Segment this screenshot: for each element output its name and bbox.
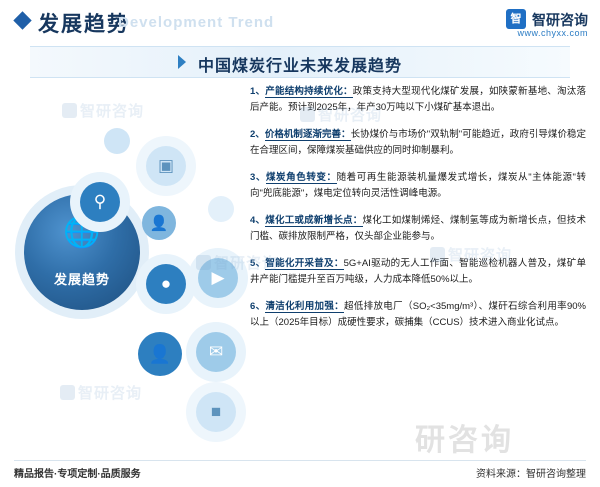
user-outline-icon: 👤: [149, 344, 171, 365]
trend-item-2-num: 2、: [250, 129, 265, 140]
trend-item-1-num: 1、: [250, 86, 265, 97]
node-user[interactable]: 👤: [142, 206, 176, 240]
node-dot-a: [104, 128, 130, 154]
mail-icon: ✉: [196, 332, 236, 372]
node-play[interactable]: ▶: [188, 248, 248, 308]
brand-url[interactable]: www.chyxx.com: [517, 28, 588, 38]
node-user-outline[interactable]: 👤: [138, 332, 182, 376]
trend-item-4: 4、煤化工或成新增长点：煤化工如煤制烯烃、煤制氢等成为新增长点，但技术门槛、碳排…: [250, 213, 586, 245]
trend-item-3: 3、煤炭角色转变：随着可再生能源装机量爆发式增长，煤炭从"主体能源"转向"兜底能…: [250, 170, 586, 202]
header-subtitle: Development Trend: [118, 14, 274, 31]
play-icon: ▶: [198, 258, 238, 298]
trend-item-1-heading: 产能结构持续优化：: [265, 86, 353, 98]
footer-source-text: 资料来源：智研咨询整理: [476, 465, 586, 480]
center-node-label: 发展趋势: [24, 269, 140, 288]
trend-item-6: 6、清洁化利用加强：超低排放电厂（SO₂<35mg/m³）、煤矸石综合利用率90…: [250, 299, 586, 331]
trend-item-5-heading: 智能化开采普及：: [265, 258, 343, 270]
trend-item-5: 5、智能化开采普及：5G+AI驱动的无人工作面、智能巡检机器人普及，煤矿单井产能…: [250, 256, 586, 288]
trend-list: 1、产能结构持续优化：政策支持大型现代化煤矿发展，如陕蒙新基地、淘汰落后产能。预…: [250, 84, 586, 436]
trend-item-1: 1、产能结构持续优化：政策支持大型现代化煤矿发展，如陕蒙新基地、淘汰落后产能。预…: [250, 84, 586, 116]
section-title-bar: 中国煤炭行业未来发展趋势: [30, 46, 570, 78]
footer-divider: [14, 460, 586, 461]
page-header: 发展趋势 Development Trend 智 智研咨询 www.chyxx.…: [0, 0, 600, 42]
node-camera[interactable]: ■: [186, 382, 246, 442]
diagram-graphic: 🌐 发展趋势 ▣ ⚲ 👤 ● ▶ 👤 ✉ ■: [8, 84, 238, 434]
trend-item-4-heading: 煤化工或成新增长点：: [265, 215, 362, 227]
node-search[interactable]: ⚲: [70, 172, 130, 232]
trend-item-4-num: 4、: [250, 215, 265, 226]
image-icon: ▣: [146, 146, 186, 186]
trend-item-6-num: 6、: [250, 301, 265, 312]
trend-item-3-heading: 煤炭角色转变：: [266, 172, 337, 184]
brand-logo-icon: 智: [506, 9, 526, 29]
trend-item-6-heading: 清洁化利用加强：: [265, 301, 344, 313]
trend-item-2-heading: 价格机制逐渐完善：: [265, 129, 351, 141]
header-title: 发展趋势: [38, 8, 130, 38]
trend-item-3-num: 3、: [250, 172, 266, 183]
search-icon: ⚲: [80, 182, 120, 222]
location-pin-icon: ●: [146, 264, 186, 304]
camera-icon: ■: [196, 392, 236, 432]
node-image[interactable]: ▣: [136, 136, 196, 196]
footer-left-text: 精品报告·专项定制·品质服务: [14, 465, 141, 480]
user-icon: 👤: [150, 214, 169, 232]
trend-item-5-num: 5、: [250, 258, 265, 269]
brand-name: 智研咨询: [532, 10, 588, 30]
trend-item-2: 2、价格机制逐渐完善：长协煤价与市场价"双轨制"可能趋近，政府引导煤价稳定在合理…: [250, 127, 586, 159]
page-title: 中国煤炭行业未来发展趋势: [30, 52, 570, 76]
node-dot-b: [208, 196, 234, 222]
node-mail[interactable]: ✉: [186, 322, 246, 382]
node-location[interactable]: ●: [136, 254, 196, 314]
diamond-icon: [13, 11, 31, 29]
